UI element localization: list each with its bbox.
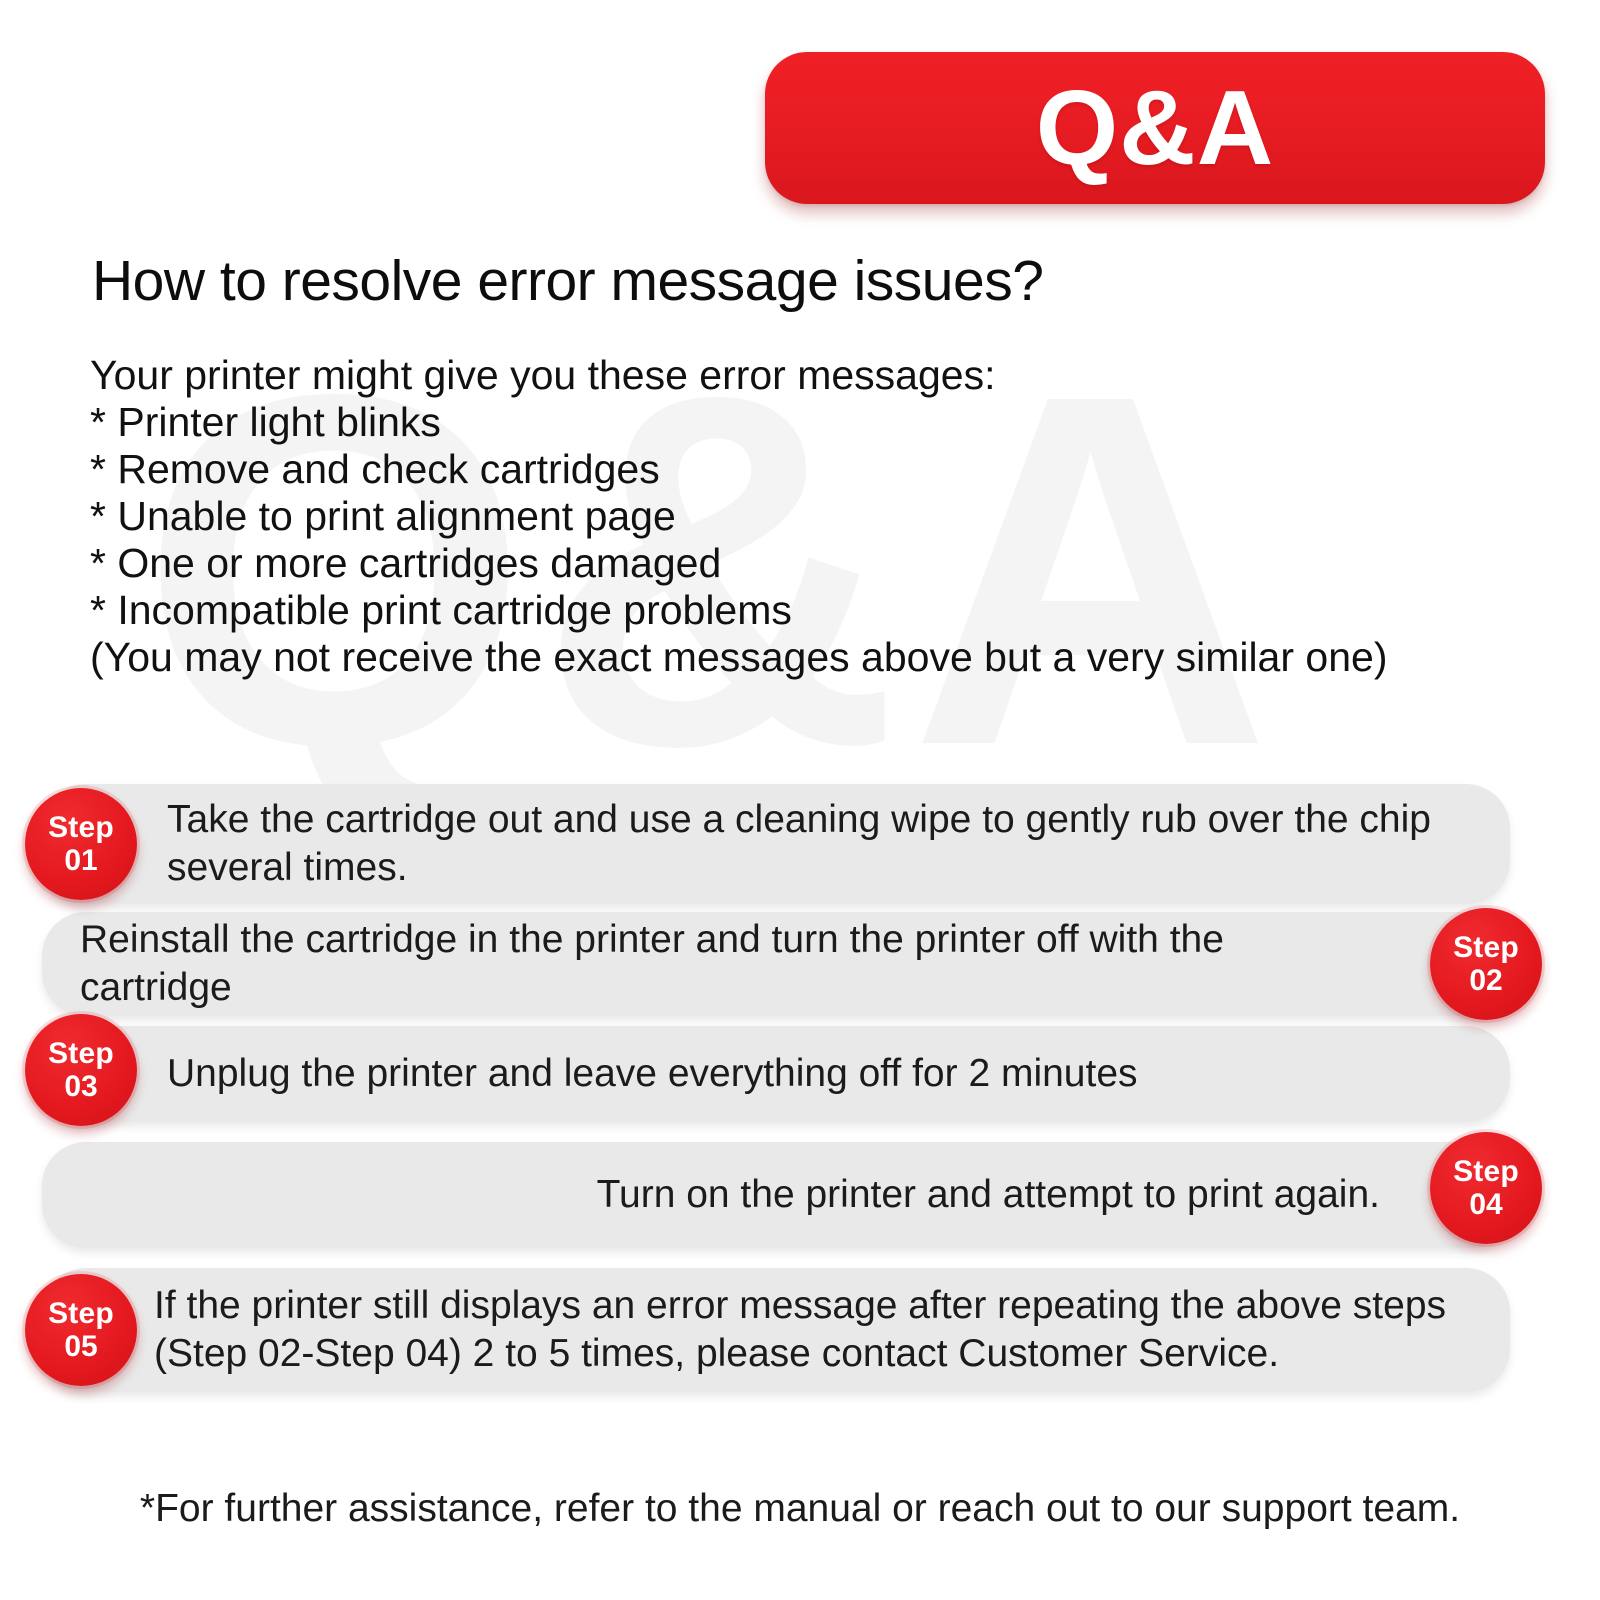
step-badge-04: Step 04: [1430, 1132, 1542, 1244]
step-badge-word: Step: [48, 811, 114, 844]
step-badge-word: Step: [1453, 931, 1519, 964]
step-bar-01: Take the cartridge out and use a cleanin…: [42, 784, 1510, 904]
qa-banner-label: Q&A: [1036, 75, 1275, 181]
step-bar-02: Reinstall the cartridge in the printer a…: [42, 912, 1510, 1016]
step-bar-04: Turn on the printer and attempt to print…: [42, 1142, 1510, 1248]
step-badge-word: Step: [48, 1297, 114, 1330]
step-text-line: If the printer still displays an error m…: [154, 1282, 1446, 1330]
step-text-04: Turn on the printer and attempt to print…: [597, 1171, 1380, 1219]
step-badge-02: Step 02: [1430, 908, 1542, 1020]
step-text-03: Unplug the printer and leave everything …: [167, 1050, 1138, 1098]
qa-banner: Q&A: [765, 52, 1545, 204]
step-badge-word: Step: [48, 1037, 114, 1070]
steps-list: Take the cartridge out and use a cleanin…: [0, 0, 1600, 1600]
step-text-line: Unplug the printer and leave everything …: [167, 1050, 1138, 1098]
step-text-line: several times.: [167, 844, 1431, 892]
footer-note: *For further assistance, refer to the ma…: [0, 1487, 1600, 1531]
qa-infographic-page: Q&A Q&A How to resolve error message iss…: [0, 0, 1600, 1600]
step-text-line: Take the cartridge out and use a cleanin…: [167, 796, 1431, 844]
step-text-02: Reinstall the cartridge in the printer a…: [80, 916, 1380, 1012]
step-text-05: If the printer still displays an error m…: [154, 1282, 1446, 1378]
step-badge-01: Step 01: [25, 788, 137, 900]
step-text-01: Take the cartridge out and use a cleanin…: [167, 796, 1431, 892]
step-badge-number: 01: [64, 844, 97, 878]
step-bar-05: If the printer still displays an error m…: [42, 1268, 1510, 1392]
step-badge-05: Step 05: [25, 1274, 137, 1386]
step-bar-03: Unplug the printer and leave everything …: [42, 1026, 1510, 1122]
step-badge-word: Step: [1453, 1155, 1519, 1188]
step-badge-number: 05: [64, 1330, 97, 1364]
step-badge-number: 04: [1469, 1188, 1502, 1222]
step-text-line: Reinstall the cartridge in the printer a…: [80, 916, 1380, 1012]
step-badge-03: Step 03: [25, 1014, 137, 1126]
step-text-line: (Step 02-Step 04) 2 to 5 times, please c…: [154, 1330, 1446, 1378]
step-badge-number: 02: [1469, 964, 1502, 998]
step-text-line: Turn on the printer and attempt to print…: [597, 1171, 1380, 1219]
step-badge-number: 03: [64, 1070, 97, 1104]
